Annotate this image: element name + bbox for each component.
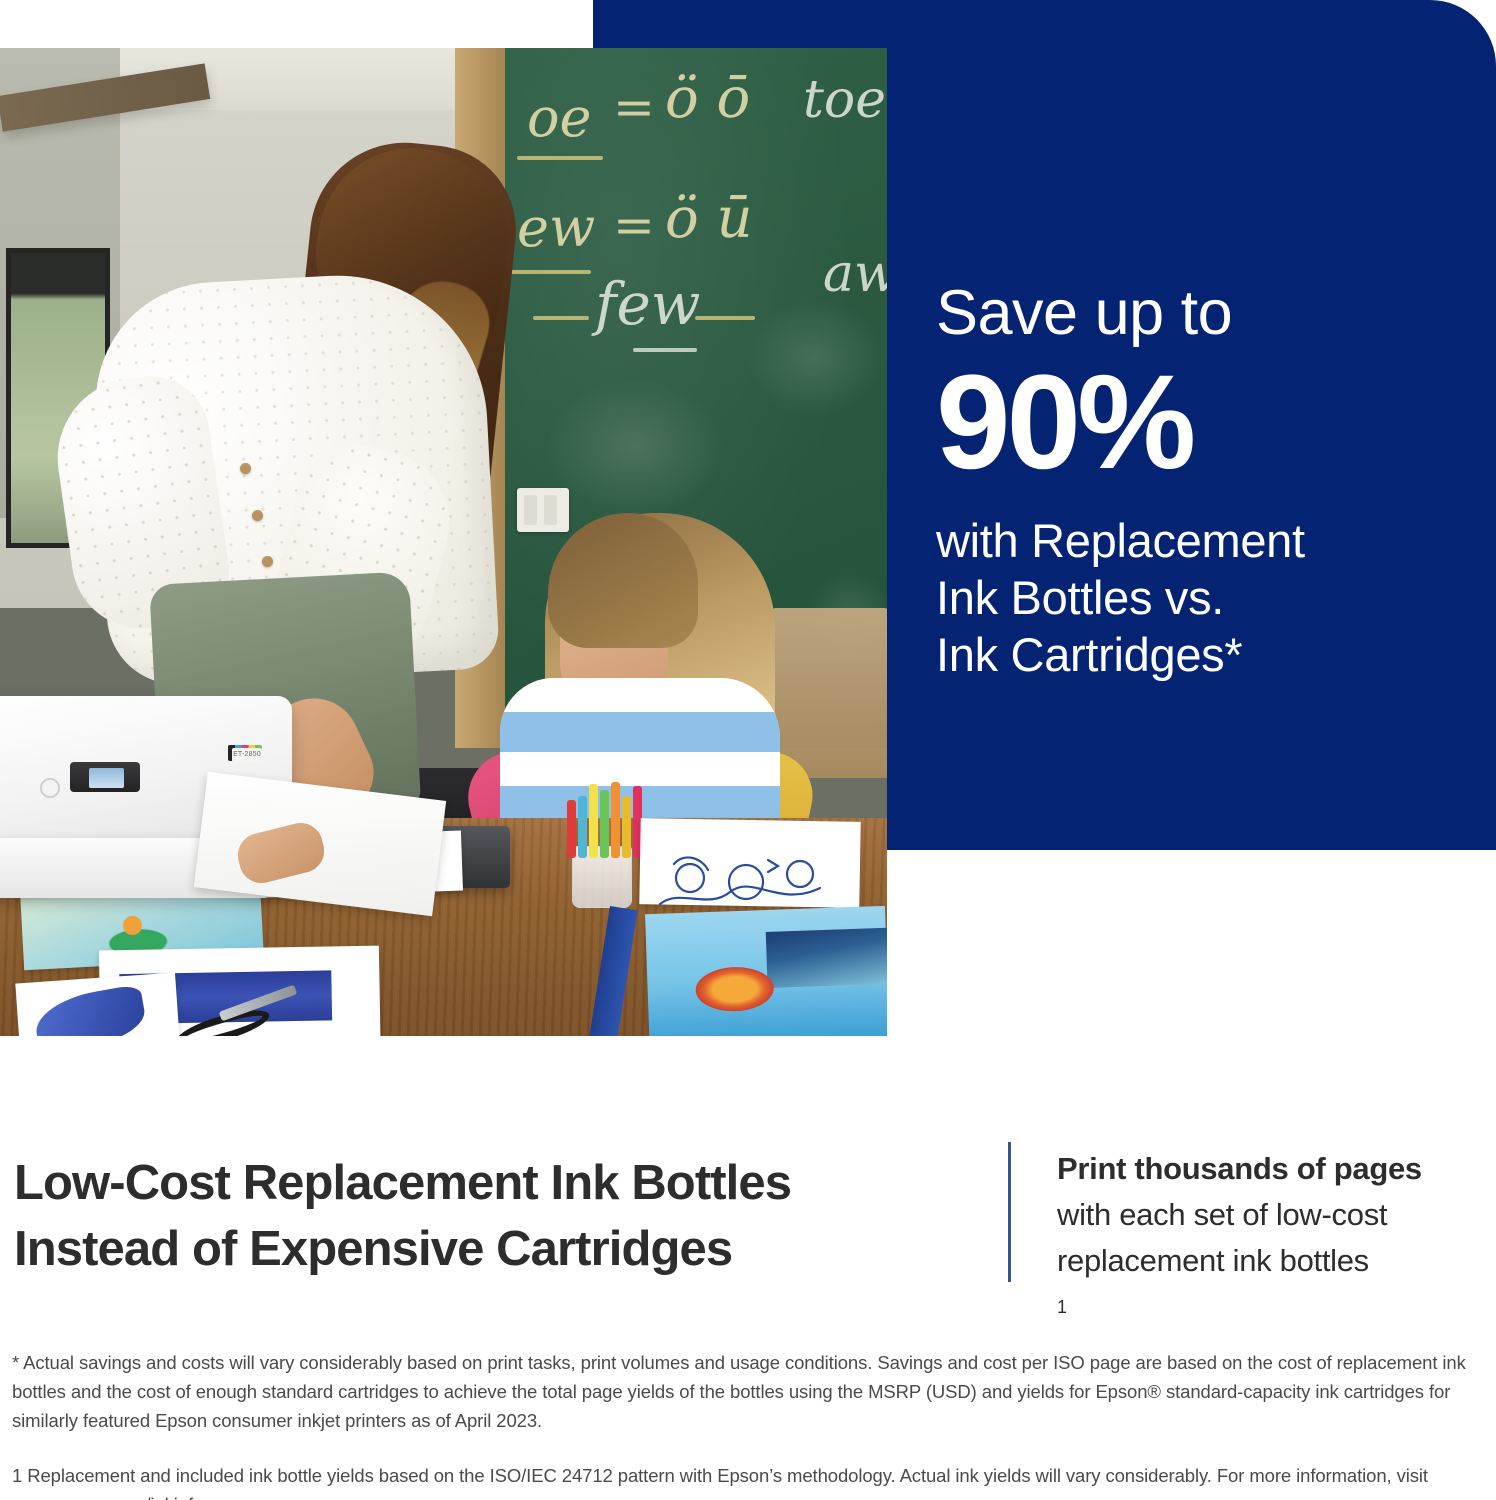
chalk-ou-2: ö ū [665, 186, 753, 251]
side-callout-body: with each set of low-cost replacement in… [1057, 1192, 1496, 1330]
light-switch [517, 488, 569, 532]
artwork-coral-detail [695, 966, 774, 1013]
printer-power-button[interactable] [40, 778, 60, 798]
chalk-smudge-2 [545, 378, 725, 518]
chalk-eq-2: = [613, 196, 655, 254]
lower-heading: Low-Cost Replacement Ink Bottles Instead… [14, 1150, 974, 1282]
side-callout-line-2-text: replacement ink bottles [1057, 1238, 1496, 1284]
chalk-underline-3 [633, 348, 697, 352]
vertical-divider [1008, 1142, 1011, 1282]
marker-green [600, 790, 609, 858]
hero-subheadline: with Replacement Ink Bottles vs. Ink Car… [936, 512, 1456, 683]
footnote-asterisk: * Actual savings and costs will vary con… [12, 1348, 1486, 1435]
hero-sub-line-1: with Replacement [936, 512, 1456, 569]
chalk-aw: aw [823, 244, 887, 304]
wooden-chair [770, 608, 887, 778]
hero-sub-line-3: Ink Cartridges* [936, 626, 1456, 683]
hero-photo: oe = ö ō ew = ö ū few toe aw [0, 48, 887, 1036]
lower-heading-line-1: Low-Cost Replacement Ink Bottles [14, 1150, 974, 1216]
chalk-squiggle-right [695, 316, 755, 320]
blouse-button-1 [240, 463, 251, 474]
chalk-underline-2 [511, 270, 591, 274]
chalk-underline-1 [517, 156, 603, 160]
side-callout-headline: Print thousands of pages [1057, 1146, 1496, 1192]
chalk-ew: ew [517, 196, 595, 259]
chalk-eq-1: = [613, 78, 655, 136]
hero-sub-line-2: Ink Bottles vs. [936, 569, 1456, 626]
footnote-one: 1 Replacement and included ink bottle yi… [12, 1461, 1486, 1500]
chalk-smudge-1 [745, 298, 885, 418]
printer-lcd-screen [89, 768, 124, 788]
promo-page: Save up to 90% with Replacement Ink Bott… [0, 0, 1496, 1500]
chalk-oe: oe [527, 86, 591, 149]
lower-heading-line-2: Instead of Expensive Cartridges [14, 1216, 974, 1282]
marker-gold [622, 796, 631, 858]
marker-yellow [589, 784, 598, 858]
side-callout-line-2: replacement ink bottles1 [1057, 1238, 1496, 1330]
footnotes-block: * Actual savings and costs will vary con… [12, 1348, 1486, 1500]
marker-cyan [578, 796, 587, 858]
hero-headline-percent: 90% [936, 352, 1456, 494]
chalk-toe: toe [803, 70, 886, 130]
printer-model-badge: ET-2850 [232, 748, 262, 762]
artwork-ocean-print [645, 906, 887, 1036]
marker-orange [611, 782, 620, 858]
chalk-oo-1: ö ō [665, 66, 750, 131]
marker-red [567, 800, 576, 858]
side-callout-line-1: with each set of low-cost [1057, 1192, 1496, 1238]
side-callout: Print thousands of pages with each set o… [1057, 1146, 1496, 1330]
chalk-squiggle-left [533, 316, 589, 320]
chalk-few: few [595, 270, 700, 338]
lower-content-row: Low-Cost Replacement Ink Bottles Instead… [0, 1120, 1496, 1320]
hero-headline-save: Save up to [936, 278, 1456, 348]
artwork-reef-detail [766, 928, 887, 988]
blouse-button-3 [262, 556, 273, 567]
side-callout-superscript: 1 [1057, 1284, 1496, 1330]
blouse-button-2 [252, 510, 263, 521]
hero-copy-block: Save up to 90% with Replacement Ink Bott… [936, 278, 1456, 683]
